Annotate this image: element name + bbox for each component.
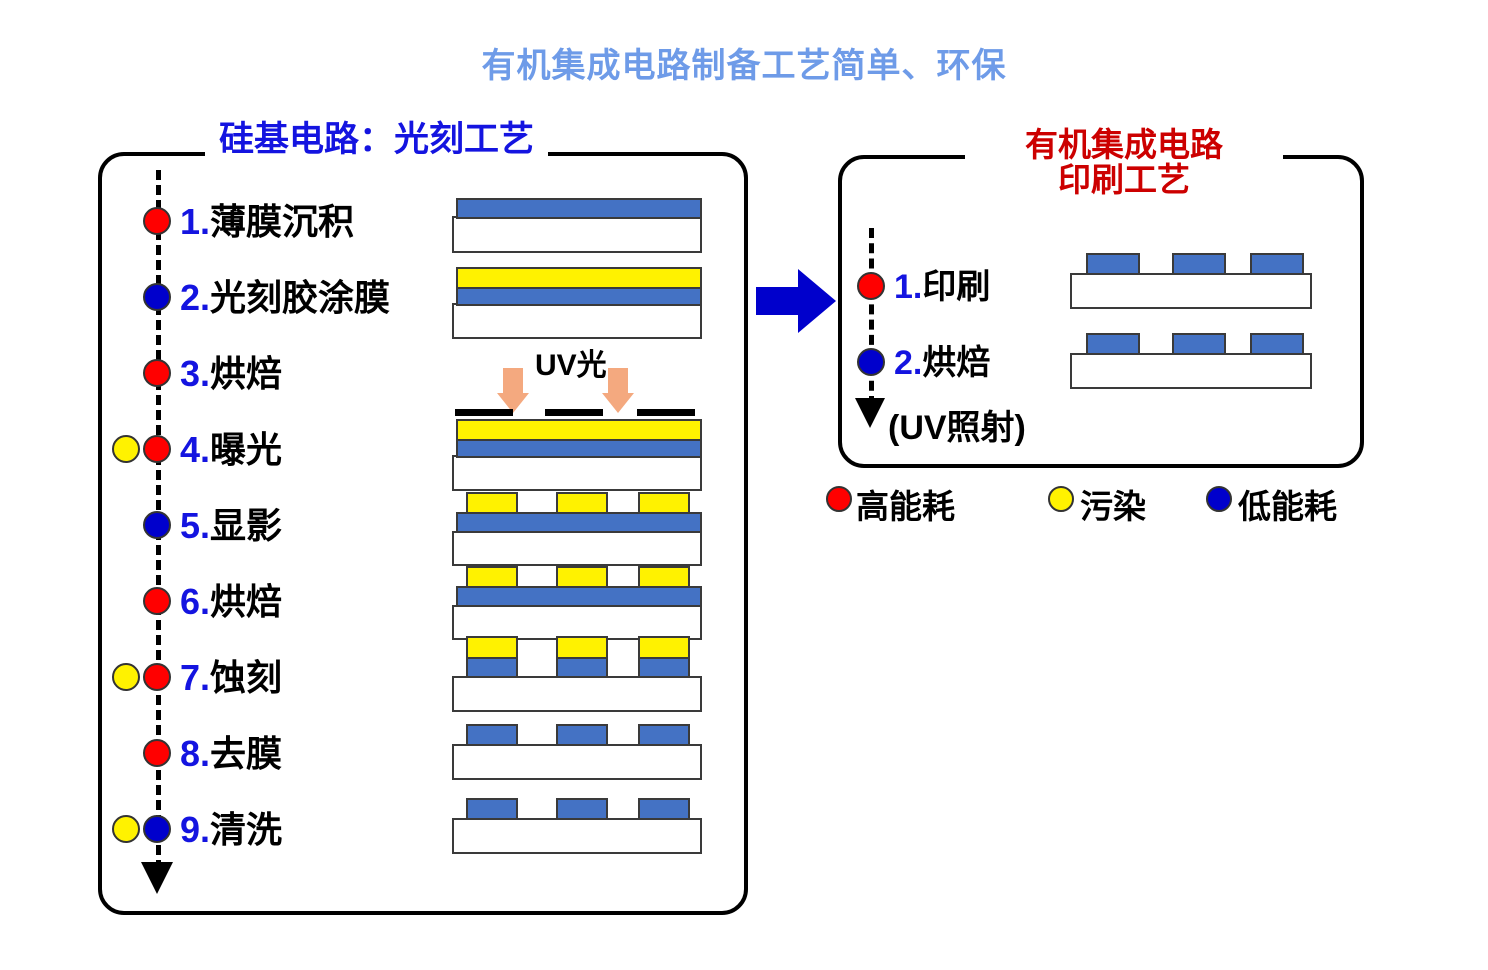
layer-substrate	[452, 531, 702, 566]
layer-film-pillar	[638, 724, 690, 746]
layer-printed-pattern	[1172, 253, 1226, 275]
step-dot-low-energy	[143, 511, 171, 539]
legend-dot-pollution	[1048, 486, 1074, 512]
photomask-bar	[455, 409, 513, 416]
stack-diagram-5	[452, 488, 702, 566]
stack-diagram-7	[452, 636, 702, 712]
layer-substrate	[452, 605, 702, 640]
organic-step-item-2: 2.烘焙	[894, 346, 990, 380]
layer-printed-pattern	[1086, 253, 1140, 275]
layer-resist-pattern	[556, 636, 608, 659]
step-dot-high-energy	[143, 207, 171, 235]
organic-stack-diagram-1	[1070, 253, 1312, 309]
step-label: 印刷	[922, 268, 990, 306]
layer-film-pillar	[638, 657, 690, 678]
layer-film-blue	[456, 198, 702, 219]
layer-photoresist-yellow	[456, 267, 702, 289]
step-label: 蚀刻	[210, 657, 282, 698]
layer-resist-pattern	[556, 492, 608, 514]
step-dot-high-energy	[143, 739, 171, 767]
step-number: 7.	[180, 657, 210, 698]
step-number: 2.	[894, 344, 922, 382]
legend: 高能耗 污染 低能耗	[826, 480, 1366, 524]
step-dot-high-energy	[143, 587, 171, 615]
step-label: 薄膜沉积	[210, 201, 354, 242]
stack-diagram-2	[452, 267, 702, 339]
stack-diagram-8	[452, 724, 702, 780]
step-dot-low-energy	[143, 283, 171, 311]
layer-resist-pattern	[638, 566, 690, 588]
step-number: 8.	[180, 733, 210, 774]
step-number: 4.	[180, 429, 210, 470]
organic-process-title-line1: 有机集成电路	[979, 128, 1269, 163]
layer-substrate	[452, 455, 702, 491]
stack-diagram-6	[452, 562, 702, 640]
layer-film-blue	[456, 512, 702, 533]
layer-resist-pattern	[466, 566, 518, 588]
step-dot-high-energy	[143, 359, 171, 387]
layer-film-blue	[456, 586, 702, 607]
step-label: 烘焙	[210, 581, 282, 622]
layer-film-pillar	[466, 798, 518, 820]
layer-film-blue	[456, 438, 702, 458]
step-label: 清洗	[210, 809, 282, 850]
step-item-6: 6.烘焙	[180, 584, 282, 620]
step-label: 显影	[210, 505, 282, 546]
step-number: 9.	[180, 809, 210, 850]
layer-substrate	[452, 303, 702, 339]
layer-resist-pattern	[556, 566, 608, 588]
layer-film-pillar	[556, 724, 608, 746]
page-title: 有机集成电路制备工艺简单、环保	[0, 38, 1488, 87]
legend-dot-high-energy	[826, 486, 852, 512]
layer-resist-pattern	[466, 636, 518, 659]
step-item-1: 1.薄膜沉积	[180, 204, 354, 240]
process-flow-line-right	[869, 228, 874, 406]
step-label: 烘焙	[922, 344, 990, 382]
layer-photoresist-yellow	[456, 419, 702, 441]
photomask-bar	[637, 409, 695, 416]
step-dot-low-energy	[143, 815, 171, 843]
layer-printed-pattern	[1086, 333, 1140, 355]
step-number: 6.	[180, 581, 210, 622]
process-flow-arrowhead-left	[141, 862, 173, 894]
organic-process-title-line2: 印刷工艺	[979, 163, 1269, 198]
layer-resist-pattern	[638, 492, 690, 514]
uv-light-label: UV光	[535, 340, 607, 384]
step-dot-low-energy	[857, 348, 885, 376]
step-number: 3.	[180, 353, 210, 394]
layer-printed-pattern	[1250, 253, 1304, 275]
step-label: 曝光	[210, 429, 282, 470]
step-dot-high-energy	[857, 272, 885, 300]
step-number: 1.	[894, 268, 922, 306]
step-label: 光刻胶涂膜	[210, 277, 390, 318]
layer-substrate	[452, 216, 702, 253]
layer-substrate	[1070, 273, 1312, 309]
layer-film-pillar	[556, 657, 608, 678]
organic-step-item-1: 1.印刷	[894, 270, 990, 304]
step-item-7: 7.蚀刻	[180, 660, 282, 696]
silicon-process-title: 硅基电路：光刻工艺	[205, 122, 548, 159]
step-number: 5.	[180, 505, 210, 546]
step-item-3: 3.烘焙	[180, 356, 282, 392]
step-number: 2.	[180, 277, 210, 318]
layer-printed-pattern	[1172, 333, 1226, 355]
transfer-arrow-icon	[756, 265, 836, 337]
step-item-2: 2.光刻胶涂膜	[180, 280, 390, 316]
legend-label-low-energy: 低能耗	[1238, 480, 1337, 528]
layer-film-pillar	[466, 724, 518, 746]
layer-film-pillar	[466, 657, 518, 678]
uv-irradiation-note: (UV照射)	[888, 400, 1026, 449]
legend-label-pollution: 污染	[1080, 480, 1146, 528]
diagram-canvas: 有机集成电路制备工艺简单、环保 硅基电路：光刻工艺 1.薄膜沉积 2.光刻胶涂膜…	[0, 0, 1488, 970]
layer-film-pillar	[638, 798, 690, 820]
layer-resist-pattern	[466, 492, 518, 514]
step-dot-high-energy	[143, 435, 171, 463]
organic-stack-diagram-2	[1070, 333, 1312, 389]
step-dot-pollution	[112, 663, 140, 691]
stack-diagram-1	[452, 198, 702, 253]
step-label: 去膜	[210, 733, 282, 774]
process-flow-arrowhead-right	[855, 398, 885, 428]
step-label: 烘焙	[210, 353, 282, 394]
stack-diagram-9	[452, 798, 702, 854]
legend-label-high-energy: 高能耗	[856, 480, 955, 528]
legend-dot-low-energy	[1206, 486, 1232, 512]
layer-substrate	[452, 676, 702, 712]
step-number: 1.	[180, 201, 210, 242]
layer-resist-pattern	[638, 636, 690, 659]
layer-printed-pattern	[1250, 333, 1304, 355]
step-item-4: 4.曝光	[180, 432, 282, 468]
step-dot-pollution	[112, 435, 140, 463]
layer-substrate	[452, 818, 702, 854]
layer-film-blue	[456, 286, 702, 306]
step-item-8: 8.去膜	[180, 736, 282, 772]
layer-substrate	[1070, 353, 1312, 389]
step-item-5: 5.显影	[180, 508, 282, 544]
step-dot-pollution	[112, 815, 140, 843]
organic-process-title: 有机集成电路 印刷工艺	[965, 128, 1283, 197]
layer-film-pillar	[556, 798, 608, 820]
layer-substrate	[452, 744, 702, 780]
step-dot-high-energy	[143, 663, 171, 691]
step-item-9: 9.清洗	[180, 812, 282, 848]
photomask-bar	[545, 409, 603, 416]
stack-diagram-4	[452, 419, 702, 491]
